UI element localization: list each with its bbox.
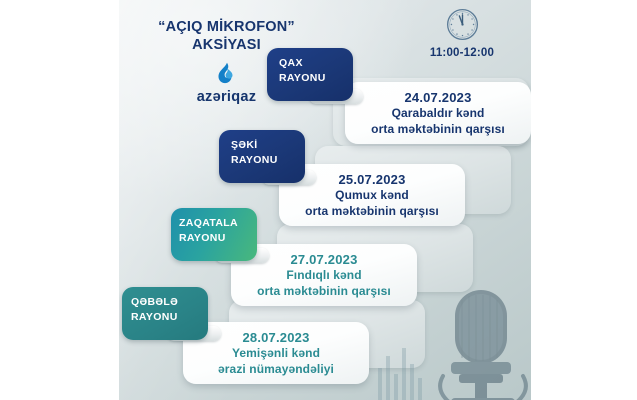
brand-logo: azəriqaz (119, 62, 334, 105)
schedule-place-line1: Yemişənli kənd (232, 346, 320, 362)
schedule-place-line2: ərazi nümayəndəliyi (218, 362, 334, 378)
brand-name: azəriqaz (119, 89, 334, 105)
schedule-card[interactable]: 24.07.2023 Qarabaldır kənd orta məktəbin… (345, 82, 531, 144)
poster-canvas: “AÇIQ MİKROFON” AKSİYASI azəriqaz (119, 0, 531, 400)
schedule-place-line2: orta məktəbinin qarşısı (305, 204, 439, 220)
equalizer-bars-icon (376, 340, 436, 400)
region-badge-seki[interactable]: ŞƏKİ RAYONU (219, 130, 305, 183)
screenshot-root: “AÇIQ MİKROFON” AKSİYASI azəriqaz (0, 0, 637, 400)
time-block: 11:00-12:00 (400, 8, 524, 59)
schedule-date: 25.07.2023 (338, 171, 405, 188)
page-title: “AÇIQ MİKROFON” AKSİYASI (119, 18, 334, 54)
time-range-label: 11:00-12:00 (400, 47, 524, 59)
region-badge-zaqatala[interactable]: ZAQATALA RAYONU (171, 208, 257, 261)
page-title-line1: “AÇIQ MİKROFON” (158, 19, 295, 35)
region-badge-line1: ZAQATALA (179, 216, 257, 231)
region-badge-line2: RAYONU (131, 310, 208, 325)
region-badge-line2: RAYONU (179, 231, 257, 246)
schedule-place-line2: orta məktəbinin qarşısı (371, 122, 505, 138)
schedule-place-line2: orta məktəbinin qarşısı (257, 284, 391, 300)
schedule-date: 27.07.2023 (290, 251, 357, 268)
flame-icon (216, 62, 238, 86)
schedule-date: 28.07.2023 (242, 329, 309, 346)
clock-icon (446, 8, 479, 41)
schedule-place-line1: Qumux kənd (335, 188, 409, 204)
page-title-line2: AKSİYASI (119, 36, 334, 54)
region-badge-qebele[interactable]: QƏBƏLƏ RAYONU (122, 287, 208, 340)
region-badge-line2: RAYONU (231, 153, 305, 168)
region-badge-line1: ŞƏKİ (231, 138, 305, 153)
schedule-date: 24.07.2023 (404, 89, 471, 106)
region-badge-line1: QƏBƏLƏ (131, 295, 208, 310)
microphone-icon (429, 282, 531, 400)
schedule-place-line1: Qarabaldır kənd (392, 106, 485, 122)
schedule-place-line1: Fındıqlı kənd (286, 268, 361, 284)
